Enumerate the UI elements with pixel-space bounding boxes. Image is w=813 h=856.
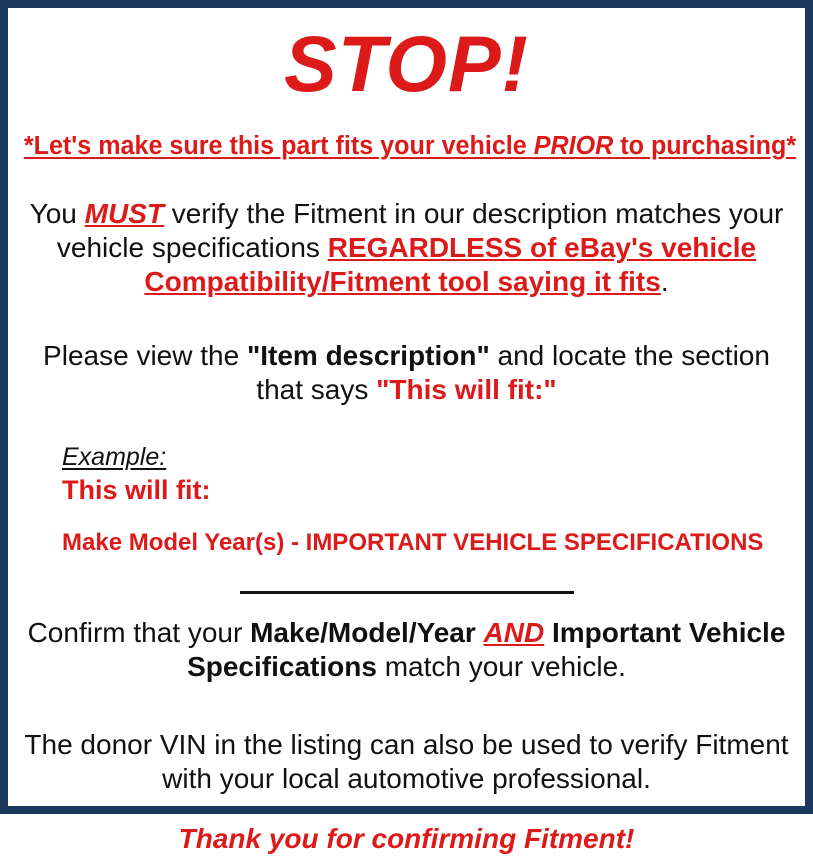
example-this-will-fit: This will fit: xyxy=(62,472,795,506)
example-block: Example: This will fit: Make Model Year(… xyxy=(18,407,795,557)
confirm-seg-1: Confirm that your xyxy=(28,617,251,648)
make-model-year-emphasis: Make/Model/Year xyxy=(250,617,476,648)
example-label-row: Example: xyxy=(62,443,795,472)
confirm-seg-7: match your vehicle. xyxy=(377,651,626,682)
confirm-seg-3 xyxy=(476,617,484,648)
divider xyxy=(18,557,795,602)
itemdesc-seg-1: Please view the xyxy=(43,340,247,371)
must-verify-paragraph: You MUST verify the Fitment in our descr… xyxy=(18,161,795,299)
confirm-seg-5 xyxy=(544,617,552,648)
page-title: STOP! xyxy=(18,8,795,114)
item-description-emphasis: "Item description" xyxy=(247,340,490,371)
divider-rule xyxy=(240,591,574,594)
fitment-notice-card: STOP! *Let's make sure this part fits yo… xyxy=(0,0,813,814)
item-description-paragraph: Please view the "Item description" and l… xyxy=(18,299,795,407)
thank-you-line: Thank you for confirming Fitment! xyxy=(18,796,795,856)
confirm-paragraph: Confirm that your Make/Model/Year AND Im… xyxy=(18,602,795,684)
donor-vin-paragraph: The donor VIN in the listing can also be… xyxy=(18,684,795,796)
example-label: Example: xyxy=(62,443,166,472)
example-spec-line: Make Model Year(s) - IMPORTANT VEHICLE S… xyxy=(62,506,795,557)
must-seg-1: You xyxy=(30,198,85,229)
and-emphasis: AND xyxy=(484,617,545,648)
must-seg-5: . xyxy=(661,266,669,297)
subtitle-banner: *Let's make sure this part fits your veh… xyxy=(24,114,789,161)
must-emphasis: MUST xyxy=(85,198,164,229)
subtitle-prefix: *Let's make sure this part fits your veh… xyxy=(24,132,534,160)
subtitle-underlined-text: *Let's make sure this part fits your veh… xyxy=(24,132,796,160)
this-will-fit-emphasis: "This will fit:" xyxy=(376,374,557,405)
subtitle-emphasis-prior: PRIOR xyxy=(534,132,614,160)
subtitle-suffix: to purchasing* xyxy=(613,132,796,160)
